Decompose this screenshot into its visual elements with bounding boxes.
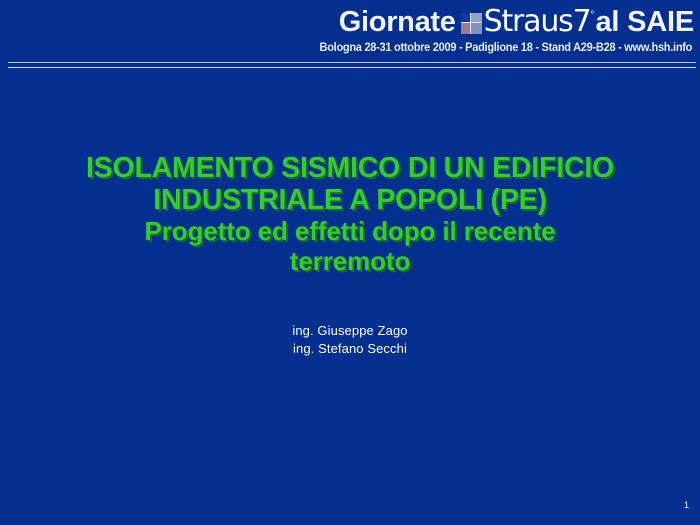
banner-subtitle: Bologna 28-31 ottobre 2009 - Padiglione …: [319, 42, 692, 54]
logo-straus7-text: Straus7: [484, 7, 591, 37]
logo-al-saie-text: al SAIE: [595, 8, 694, 37]
title-line-4: terremoto: [0, 247, 700, 277]
page-number: 1: [684, 501, 689, 510]
presentation-slide: Giornate Straus7 ° al SAIE Bologna 28-31…: [0, 0, 700, 525]
title-line-1: ISOLAMENTO SISMICO DI UN EDIFICIO: [0, 152, 700, 184]
author-list: ing. Giuseppe Zago ing. Stefano Secchi: [0, 322, 700, 357]
divider-line-top: [8, 62, 696, 63]
header-divider: [8, 62, 696, 69]
mesh-grid-icon: [461, 13, 482, 34]
author-line-1: ing. Giuseppe Zago: [0, 322, 700, 340]
title-line-3: Progetto ed effetti dopo il recente: [0, 217, 700, 247]
logo-giornate-text: Giornate: [339, 8, 456, 37]
brand-logo: Giornate Straus7 ° al SAIE: [339, 6, 694, 38]
title-line-2: INDUSTRIALE A POPOLI (PE): [0, 184, 700, 216]
divider-line-bottom: [8, 67, 696, 68]
author-line-2: ing. Stefano Secchi: [0, 340, 700, 358]
header-banner: Giornate Straus7 ° al SAIE Bologna 28-31…: [0, 0, 700, 62]
slide-title: ISOLAMENTO SISMICO DI UN EDIFICIO INDUST…: [0, 152, 700, 276]
logo-registered-mark: °: [590, 10, 594, 21]
